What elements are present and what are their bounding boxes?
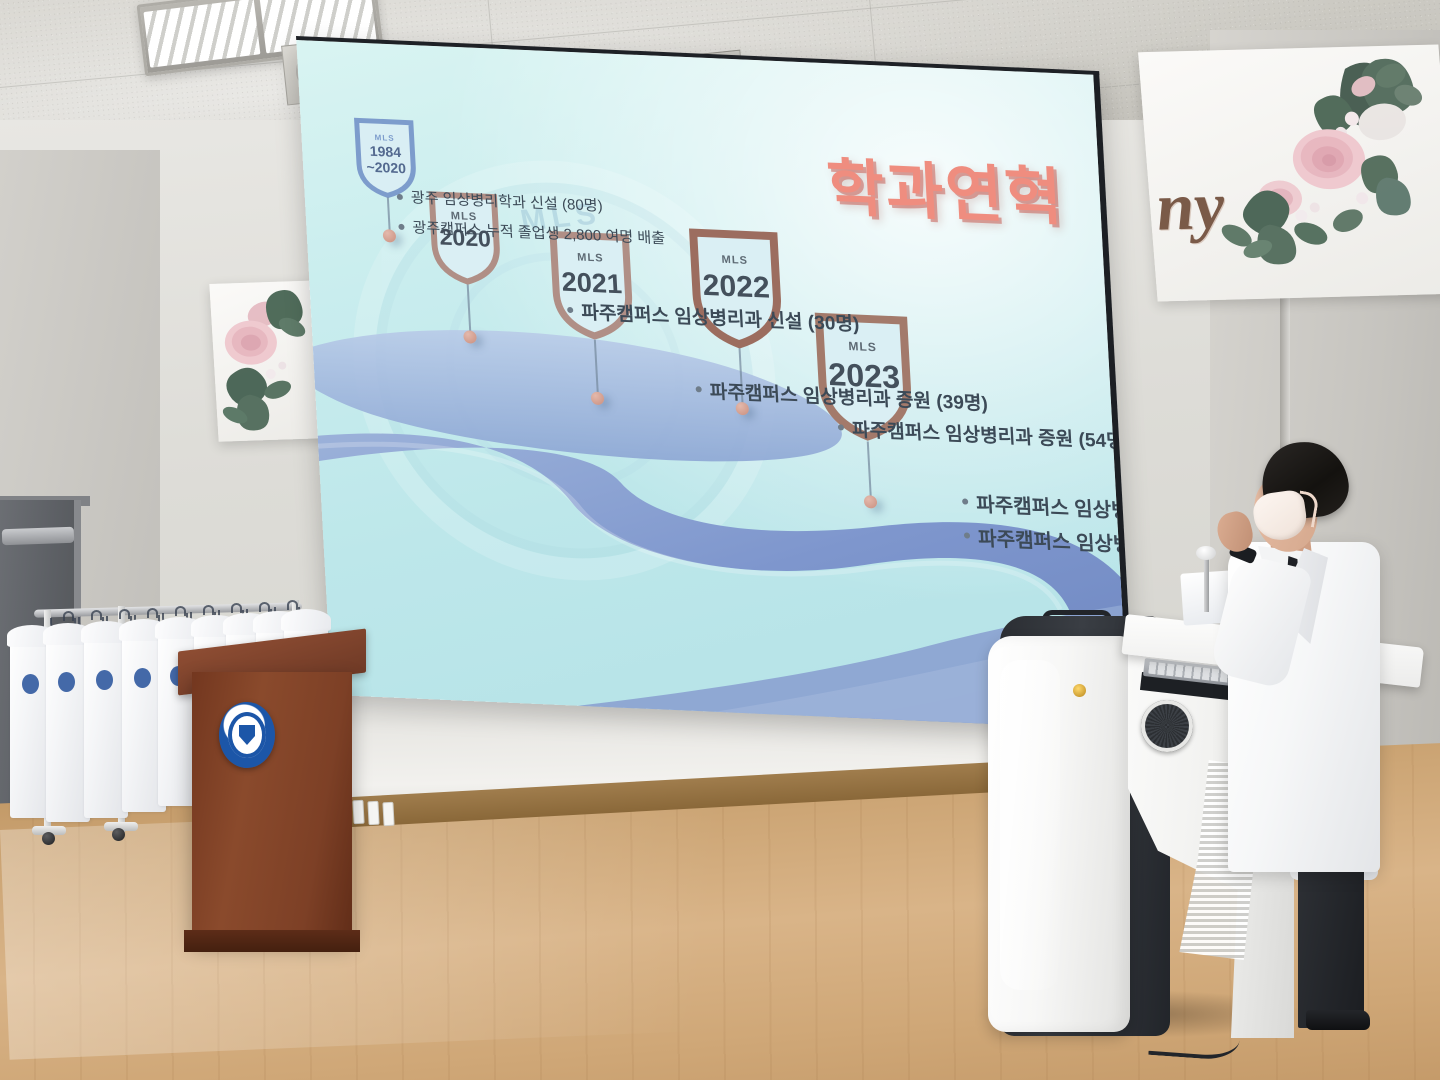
lectern-power-cable xyxy=(1148,1003,1241,1061)
coat-logo-icon xyxy=(58,672,75,692)
bullet-dot-icon xyxy=(397,194,403,200)
wall-socket-icon xyxy=(352,800,364,825)
wall-socket-icon xyxy=(382,802,394,827)
coat-logo-icon xyxy=(96,670,113,690)
list-item: 파주캠퍼스 임상병리과 증원 (54명) xyxy=(837,414,1130,454)
microphone-icon[interactable] xyxy=(1196,546,1216,560)
bullet-text: 광주캠퍼스 누적 졸업생 2,800 여명 배출 xyxy=(412,216,666,248)
bullet-text: 파주캠퍼스 임상병리과 증원 (39명) xyxy=(709,377,988,416)
bullet-text: 광주 임상병리학과 신설 (80명) xyxy=(410,186,603,215)
wall-socket-icon xyxy=(367,801,379,826)
lectern-brand-badge-icon xyxy=(1073,684,1086,697)
list-item: 파주캠퍼스 임상병리과 신설 (30명) xyxy=(567,297,860,337)
coat-logo-icon xyxy=(134,668,151,688)
bullet-dot-icon xyxy=(696,387,702,393)
lectern-gloss xyxy=(1000,660,1060,990)
wooden-podium-base xyxy=(184,930,360,952)
list-item: 광주 임상병리학과 신설 (80명) xyxy=(396,186,603,216)
bullet-text: 파주캠퍼스 임상병리과 증원 (54명) xyxy=(851,415,1130,454)
coat-rack-wheel-icon xyxy=(42,832,55,845)
list-item: 광주캠퍼스 누적 졸업생 2,800 여명 배출 xyxy=(398,216,666,249)
coat-logo-icon xyxy=(22,674,39,694)
bullet-dot-icon xyxy=(567,307,573,313)
list-item: 파주캠퍼스 임상병리과 증원 (62명) xyxy=(963,521,1135,563)
coat-rack-wheel-icon xyxy=(112,828,125,841)
presenter-shoe xyxy=(1306,1010,1370,1030)
door-closer-icon xyxy=(2,527,75,546)
lecture-hall-photo: ny xyxy=(0,0,1440,1080)
university-seal-icon xyxy=(219,702,275,768)
bullet-text: 파주캠퍼스 임상병리과 신설 (30명) xyxy=(581,297,860,336)
floral-banner-right: ny xyxy=(1138,44,1440,301)
bullet-text: 파주캠퍼스 임상병리과 증원 (62명) xyxy=(977,522,1134,564)
bullet-dot-icon xyxy=(838,425,844,431)
bullet-dot-icon xyxy=(964,532,970,538)
wooden-podium xyxy=(192,672,352,940)
lectern-speaker-icon xyxy=(1141,700,1193,752)
bullet-dot-icon xyxy=(962,498,968,504)
floral-motif-icon xyxy=(1138,44,1440,301)
microphone-stand xyxy=(1204,556,1209,612)
bullet-dot-icon xyxy=(398,224,404,230)
list-item: 파주캠퍼스 임상병리과 증원 (39명) xyxy=(695,376,988,416)
